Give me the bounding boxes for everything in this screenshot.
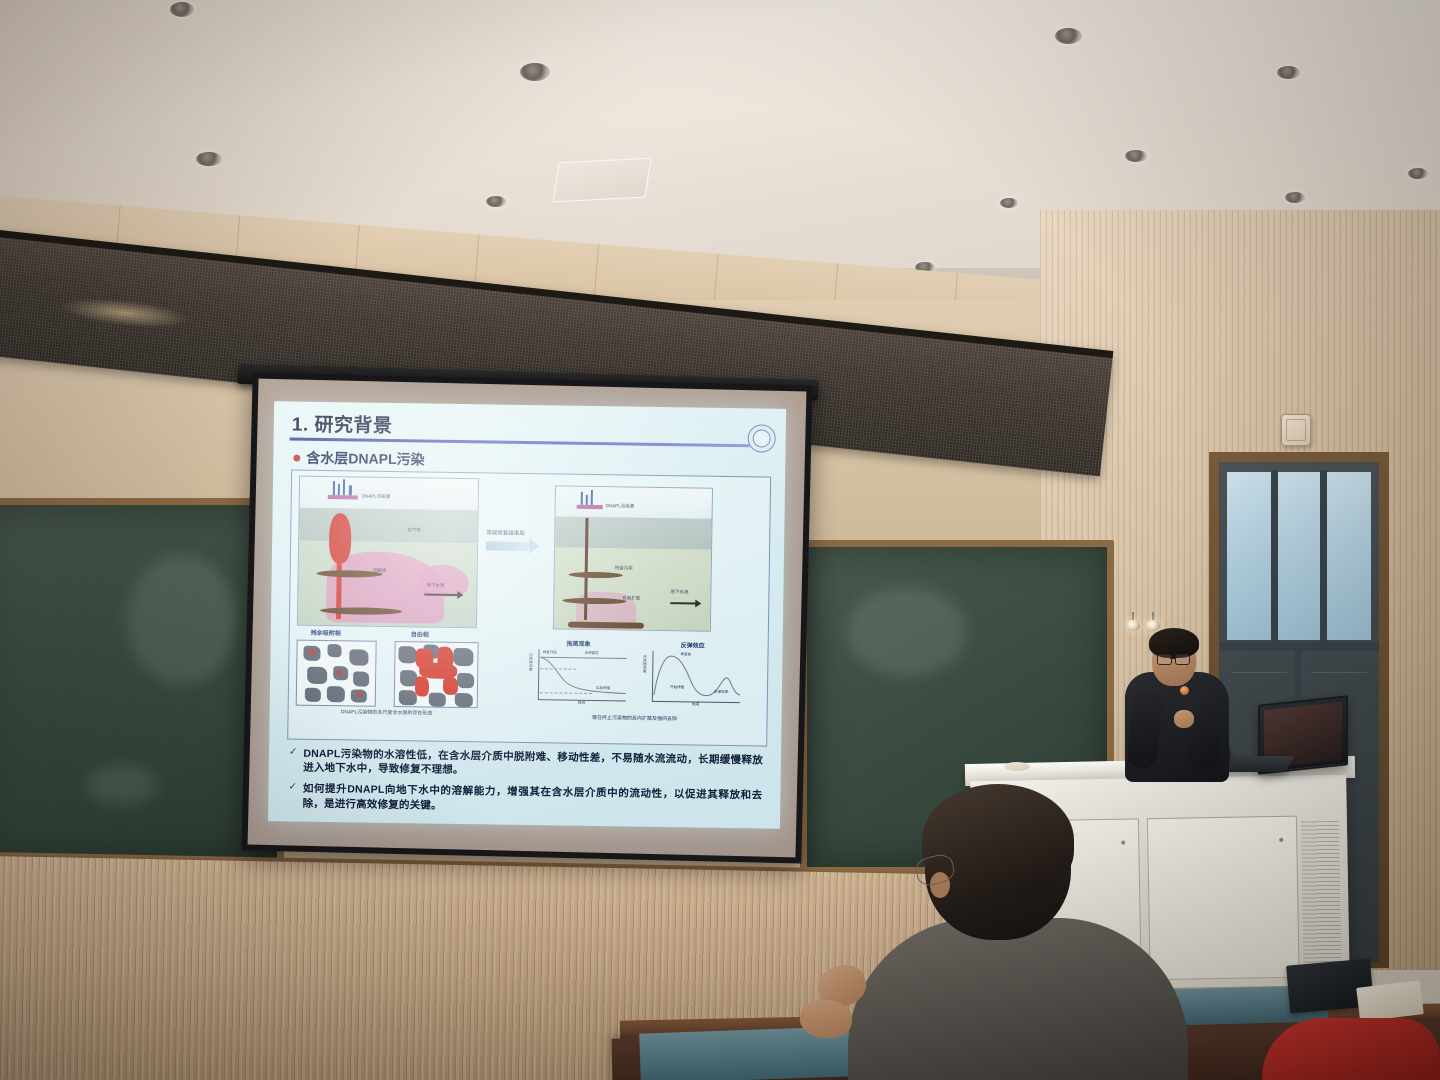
podium-paper	[1004, 762, 1030, 771]
xs-vadose-zone	[299, 508, 477, 543]
podium-cabinet-door[interactable]	[1147, 816, 1300, 981]
xs-wellhead-rig	[586, 495, 588, 505]
grain	[457, 673, 474, 688]
pore-image-right-title: 自由相	[411, 629, 429, 638]
slide-title: 1. 研究背景	[292, 409, 393, 437]
ceiling-downlight-icon	[1285, 192, 1305, 203]
transition-arrow-icon	[486, 541, 530, 551]
ceiling-downlight-icon	[486, 196, 506, 207]
grain	[455, 693, 473, 707]
xs-residual-label: 残留污染	[615, 565, 633, 571]
grain	[307, 667, 327, 684]
xs-source-pad	[328, 495, 358, 499]
door-glass-pane	[1327, 472, 1371, 640]
mini-chart-rebound: 反弹效应 污染物浓度 时间 修复前 开始修复 反弹现象	[640, 649, 745, 713]
door-panel-line	[1231, 672, 1287, 673]
chart-annotation: 未修复区	[584, 651, 598, 656]
presenter-glasses	[1157, 654, 1172, 665]
free-phase-oil	[415, 676, 429, 696]
mini-chart-tailing: 拖尾现象 污染物浓度 时间 修复开始 未修复区 实际修复	[526, 647, 631, 711]
xs-plume-label: 溶解相	[373, 568, 387, 574]
chart-annotation: 修复开始	[542, 650, 556, 655]
ceiling-downlight-icon	[170, 2, 194, 17]
checklist-item: ✓ DNAPL污染物的水溶性低，在含水层介质中脱附难、移动性差，不易随水流流动，…	[289, 746, 763, 781]
pore-image-left-title: 残余吸附相	[311, 628, 341, 637]
xs-dnapl-body	[329, 513, 352, 564]
free-phase-oil	[437, 647, 453, 669]
ceiling-access-panel	[552, 158, 651, 203]
podium-vent	[1301, 821, 1342, 972]
presenter-hand	[1174, 710, 1194, 728]
xs-wellhead-rig	[343, 479, 345, 495]
ceiling-downlight-icon	[520, 63, 550, 81]
grain	[327, 686, 345, 702]
xs-backdiffusion-label: 反向扩散	[622, 595, 640, 601]
chart-annotation: 修复前	[680, 652, 691, 657]
grain	[429, 693, 446, 707]
podium-knob[interactable]	[1279, 838, 1283, 842]
ceiling-downlight-icon	[196, 152, 222, 166]
spotlight-icon	[1126, 620, 1140, 631]
mini-chart-title: 拖尾现象	[567, 639, 591, 648]
ceiling-downlight-icon	[1277, 66, 1300, 79]
xs-source-label: DNAPL污染源	[606, 503, 635, 509]
door-mullion	[1320, 470, 1327, 642]
xs-source-pad	[577, 505, 603, 509]
checklist-text: 如何提升DNAPL向地下水中的溶解能力，增强其在含水层介质中的流动性，以促进其释…	[303, 782, 763, 817]
chart-annotation: 开始修复	[670, 685, 684, 690]
residual-oil-blob	[308, 649, 315, 655]
xs-sky	[556, 486, 712, 518]
projected-slide: 1. 研究背景 含水层DNAPL污染	[268, 401, 786, 829]
door-glass-pane	[1277, 472, 1321, 640]
ceiling-downlight-icon	[1125, 150, 1147, 162]
presenter-hair	[1149, 628, 1199, 658]
xs-bottom-layer	[568, 621, 644, 628]
door-mullion	[1271, 470, 1278, 642]
checklist-text: DNAPL污染物的水溶性低，在含水层介质中脱附难、移动性差，不易随水流流动，长期…	[303, 747, 763, 782]
presenter-lapel-mic-icon	[1180, 686, 1189, 695]
chart-annotation: 反弹现象	[714, 690, 728, 695]
ceiling-downlight-icon	[1055, 28, 1082, 44]
projector-screen: 1. 研究背景 含水层DNAPL污染	[241, 372, 812, 863]
xs-wellhead-rig	[333, 481, 335, 495]
transition-label: 常规修复结束后	[486, 528, 525, 537]
attendee-red-clothing	[1262, 1018, 1440, 1080]
door-panel-line	[1311, 672, 1367, 673]
grain	[327, 644, 341, 657]
glasses-bridge	[1170, 658, 1175, 659]
grain	[398, 646, 416, 663]
cross-section-before: DNAPL污染源 包气带 溶解相 地下水流	[297, 476, 479, 629]
xs-wellhead-rig	[338, 484, 340, 495]
spotlight-icon	[1146, 620, 1160, 631]
presenter-glasses	[1175, 654, 1190, 665]
free-phase-oil	[443, 677, 458, 695]
xs-wellhead-rig	[591, 490, 593, 505]
check-icon: ✓	[289, 746, 298, 774]
xs-flow-label: 地下水流	[426, 582, 444, 588]
grain	[305, 688, 321, 702]
chart-annotation: 实际修复	[596, 686, 610, 691]
xs-vadose-zone	[555, 516, 711, 550]
screen-canvas: 1. 研究背景 含水层DNAPL污染	[248, 379, 807, 858]
cross-section-after: DNAPL污染源 残留污染 反向扩散 地下水流	[553, 485, 713, 631]
xs-groundwater-flow-arrow	[670, 602, 696, 604]
grain	[453, 648, 473, 666]
grain	[399, 690, 417, 705]
pore-image-free-phase	[394, 641, 479, 708]
university-seal-icon	[748, 424, 776, 452]
title-underline	[290, 437, 750, 447]
ceiling-downlight-icon	[1408, 168, 1428, 179]
slide-section-bullet: 含水层DNAPL污染	[293, 448, 425, 470]
slide-section-label: 含水层DNAPL污染	[306, 448, 425, 470]
xs-vadose-label: 包气带	[407, 527, 421, 533]
residual-oil-blob	[336, 670, 342, 675]
wall-panel-inner	[1286, 419, 1306, 441]
xs-flow-label: 地下水流	[670, 589, 688, 595]
grain	[353, 671, 369, 686]
residual-oil-blob	[356, 691, 362, 696]
ceiling-downlight-icon	[1000, 198, 1018, 208]
xs-wellhead-rig	[349, 485, 352, 495]
chart-lines	[526, 647, 631, 711]
door-mullion	[1219, 642, 1379, 651]
xs-wellhead-rig	[581, 492, 583, 505]
checklist-item: ✓ 如何提升DNAPL向地下水中的溶解能力，增强其在含水层介质中的流动性，以促进…	[288, 782, 762, 817]
bullet-dot-icon	[293, 454, 300, 461]
podium-knob[interactable]	[1121, 841, 1125, 845]
slide-checklist: ✓ DNAPL污染物的水溶性低，在含水层介质中脱附难、移动性差，不易随水流流动，…	[288, 746, 763, 824]
grain	[349, 649, 368, 665]
wall-control-panel[interactable]	[1281, 414, 1311, 446]
xs-source-label: DNAPL污染源	[362, 494, 391, 500]
mini-chart-title: 反弹效应	[681, 640, 705, 649]
check-icon: ✓	[288, 782, 297, 810]
chart-lines	[640, 649, 745, 713]
pore-image-residual	[296, 640, 377, 707]
lecture-hall-photo: 1. 研究背景 含水层DNAPL污染	[0, 0, 1440, 1080]
door-glass-pane	[1227, 472, 1271, 640]
